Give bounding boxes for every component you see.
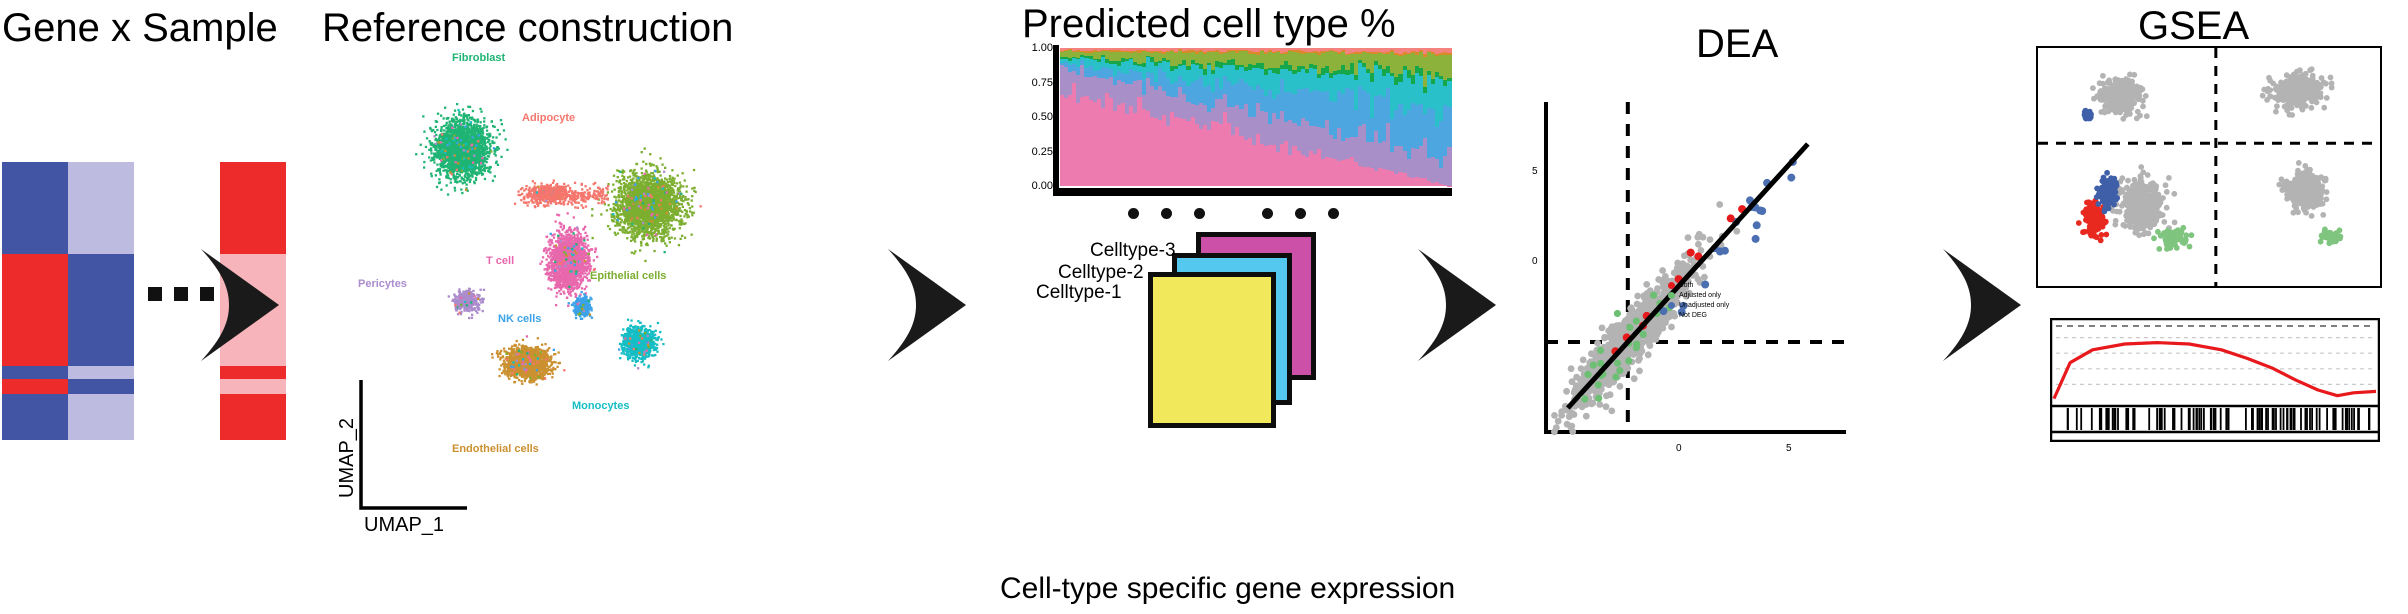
heatmap-cell: [2, 349, 68, 365]
heatmap-cell: [220, 162, 286, 210]
dea-legend-swatch: [1668, 302, 1675, 309]
dea-legend: BothAdjusted onlyUnadjusted onlyNot DEG: [1668, 280, 1729, 320]
flow-arrow-1: [193, 245, 283, 365]
dea-legend-item[interactable]: Adjusted only: [1668, 290, 1729, 300]
stacked-bar-segment: [1447, 55, 1451, 78]
umap-label-pericytes: Pericytes: [358, 278, 407, 290]
heatmap-cell: [2, 210, 68, 226]
dea-scatter: 5 0 0 5: [1500, 88, 1860, 470]
dea-x-tick-5: 5: [1786, 443, 1792, 454]
umap-axis-label-x: UMAP_1: [364, 514, 444, 537]
panel-reference-construction: Reference construction Fibroblast Adipoc…: [300, 0, 760, 614]
figure-canvas: Gene x Sample Reference construction Fib…: [0, 0, 2408, 614]
dea-legend-item[interactable]: Unadjusted only: [1668, 300, 1729, 310]
heatmap-cell: [2, 394, 68, 407]
card-dots-left: [1128, 208, 1205, 219]
celltype-card-1[interactable]: [1148, 272, 1276, 428]
dea-legend-item[interactable]: Not DEG: [1668, 310, 1729, 320]
dea-x-tick-0: 0: [1676, 443, 1682, 454]
heatmap-cell: [68, 162, 134, 210]
heatmap-cell: [2, 379, 68, 394]
heatmap-cell: [68, 366, 134, 379]
stacked-bar-y-tick: 0.75: [1032, 77, 1053, 89]
gsea-scatter-canvas: [2038, 48, 2380, 286]
stacked-bar-plot-area: [1060, 48, 1452, 186]
heatmap-cell: [2, 269, 68, 312]
dea-legend-swatch: [1668, 292, 1675, 299]
heatmap-cell: [220, 366, 286, 379]
heatmap-cell: [220, 407, 286, 440]
heatmap-cell: [220, 210, 286, 226]
heatmap-cell: [68, 312, 134, 349]
stacked-bar-x-axis: [1053, 188, 1452, 196]
umap-axis-label-y: UMAP_2: [336, 418, 359, 498]
stacked-bar-segment: [1447, 147, 1451, 186]
dea-legend-label: Not DEG: [1679, 312, 1707, 319]
dea-legend-label: Unadjusted only: [1679, 302, 1729, 309]
heatmap-cell: [68, 394, 134, 407]
flow-arrow-3: [1410, 245, 1500, 365]
gsea-quadrant-frame: [2036, 46, 2382, 288]
dea-legend-swatch: [1668, 282, 1675, 289]
panel-title-predicted-cell-type: Predicted cell type %: [1022, 2, 1396, 47]
umap-label-epithelial-cells: Epithelial cells: [590, 270, 666, 282]
heatmap-cell: [2, 407, 68, 440]
umap-label-t-cell: T cell: [486, 255, 514, 267]
heatmap-cell: [68, 254, 134, 269]
dea-legend-item[interactable]: Both: [1668, 280, 1729, 290]
panel-predicted-cell-type: Predicted cell type % 0.000.250.500.751.…: [1000, 0, 1480, 614]
stacked-bar-y-tick: 0.50: [1032, 111, 1053, 123]
panel-title-gsea: GSEA: [2138, 4, 2249, 49]
dea-legend-label: Both: [1679, 282, 1693, 289]
stacked-bar-segment: [1447, 107, 1451, 148]
stacked-bar-chart: 0.000.250.500.751.00: [1058, 48, 1452, 186]
heatmap-cell: [220, 379, 286, 394]
heatmap-cell: [68, 379, 134, 394]
heatmap-cell: [68, 210, 134, 226]
heatmap-cell: [2, 254, 68, 269]
stacked-bar-y-tick: 0.25: [1032, 146, 1053, 158]
dea-y-tick-0: 0: [1532, 256, 1538, 267]
heatmap-cell: [68, 226, 134, 254]
umap-label-monocytes: Monocytes: [572, 400, 629, 412]
celltype-card-label-2: Celltype-2: [1058, 262, 1144, 284]
celltype-card-stack: Celltype-3 Celltype-2 Celltype-1: [1000, 200, 1480, 440]
heatmap-cell: [2, 226, 68, 254]
panel-title-gene-x-sample: Gene x Sample: [2, 6, 278, 51]
flow-arrow-4: [1935, 245, 2025, 365]
umap-label-nk-cells: NK cells: [498, 313, 541, 325]
umap-axis-lines: [355, 378, 475, 518]
stacked-bar-y-axis: [1053, 45, 1059, 191]
dea-y-tick-5: 5: [1532, 166, 1538, 177]
heatmap-cell: [68, 407, 134, 440]
heatmap-cell: [68, 349, 134, 365]
umap-label-adipocyte: Adipocyte: [522, 112, 575, 124]
umap-label-fibroblast: Fibroblast: [452, 52, 505, 64]
stacked-bar-y-tick: 1.00: [1032, 42, 1053, 54]
panel-gsea: GSEA: [2030, 0, 2408, 614]
gsea-running-score-canvas: [2050, 318, 2380, 442]
celltype-card-label-1: Celltype-1: [1036, 282, 1122, 304]
panel-title-dea: DEA: [1696, 22, 1778, 67]
heatmap-cell: [2, 312, 68, 349]
flow-arrow-2: [880, 245, 970, 365]
card-dots-right: [1262, 208, 1339, 219]
heatmap-cell: [2, 366, 68, 379]
stacked-bar-y-tick: 0.00: [1032, 180, 1053, 192]
stacked-bar: [1447, 48, 1451, 186]
heatmap-column: [2, 162, 68, 440]
dea-legend-swatch: [1668, 312, 1675, 319]
dea-scatter-canvas: [1500, 88, 1860, 470]
panel-caption-cell-type-expression: Cell-type specific gene expression: [1000, 572, 1455, 606]
celltype-card-label-3: Celltype-3: [1090, 240, 1176, 262]
gsea-enrichment-plot: [2050, 318, 2380, 442]
heatmap-cell: [68, 269, 134, 312]
heatmap-cell: [220, 394, 286, 407]
dea-legend-label: Adjusted only: [1679, 292, 1721, 299]
stacked-bar-segment: [1447, 81, 1451, 106]
heatmap-cell: [2, 162, 68, 210]
heatmap-column: [68, 162, 134, 440]
